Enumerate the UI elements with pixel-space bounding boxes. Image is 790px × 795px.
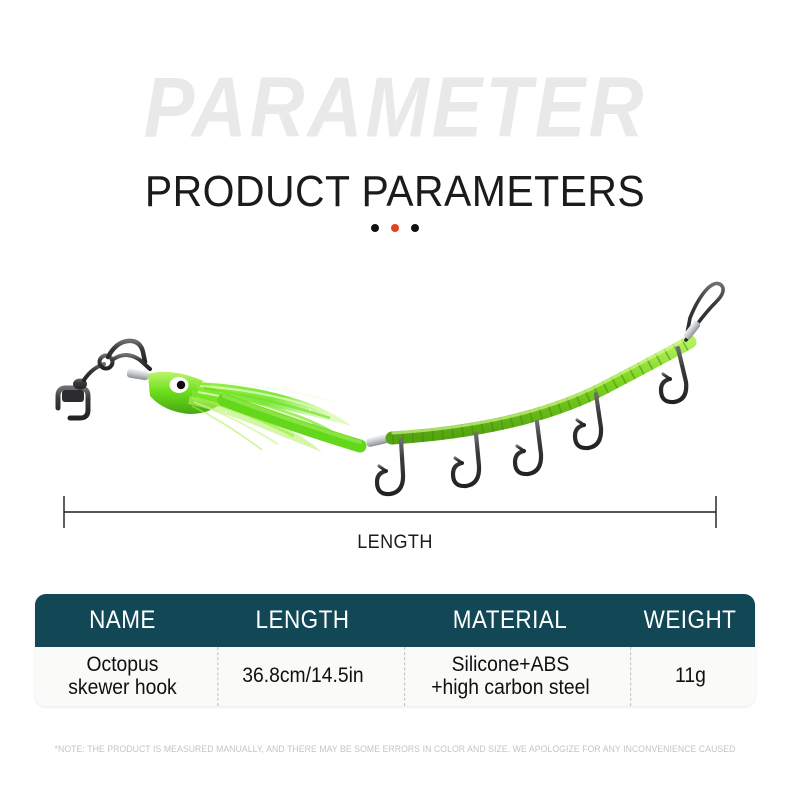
lure-pupil: [177, 381, 185, 389]
cell-length: 36.8cm/14.5in: [217, 647, 387, 706]
spec-table-header-row: NAME LENGTH MATERIAL WEIGHT: [35, 594, 755, 647]
cell-weight: 11g: [630, 647, 750, 706]
measurement-disclaimer: *NOTE: THE PRODUCT IS MEASURED MANUALLY,…: [16, 744, 774, 754]
watermark-text: PARAMETER: [0, 66, 790, 151]
column-header-name: NAME: [44, 594, 202, 647]
length-caption: LENGTH: [20, 532, 771, 554]
cell-material-line2: +high carbon steel: [431, 676, 589, 699]
column-header-length: LENGTH: [219, 594, 386, 647]
beaded-line: [392, 337, 690, 438]
snap-swivel-icon: [58, 341, 150, 418]
product-image: [0, 260, 790, 510]
table-row: Octopus skewer hook 36.8cm/14.5in Silico…: [35, 647, 755, 706]
cell-name: Octopus skewer hook: [42, 647, 203, 706]
dot-indicator-1: [371, 224, 379, 232]
hook-2: [453, 434, 479, 486]
column-header-weight: WEIGHT: [632, 594, 749, 647]
cell-material-line1: Silicone+ABS: [452, 653, 570, 676]
cell-material: Silicone+ABS +high carbon steel: [404, 647, 616, 706]
decorative-dot-row: [0, 224, 790, 232]
column-header-material: MATERIAL: [407, 594, 614, 647]
hook-3: [515, 422, 541, 474]
fishing-lure-illustration: [0, 260, 790, 510]
dot-indicator-3: [411, 224, 419, 232]
cell-name-line2: skewer hook: [68, 676, 176, 699]
page-title: PRODUCT PARAMETERS: [28, 170, 763, 214]
spec-table: NAME LENGTH MATERIAL WEIGHT Octopus skew…: [35, 594, 755, 706]
dot-indicator-accent: [391, 224, 399, 232]
hook-1: [377, 440, 403, 494]
wire-loop-icon: [683, 283, 723, 340]
cell-name-line1: Octopus: [87, 653, 159, 676]
crimp-sleeve-left: [126, 368, 149, 380]
header-block: PARAMETER PRODUCT PARAMETERS: [0, 0, 790, 250]
